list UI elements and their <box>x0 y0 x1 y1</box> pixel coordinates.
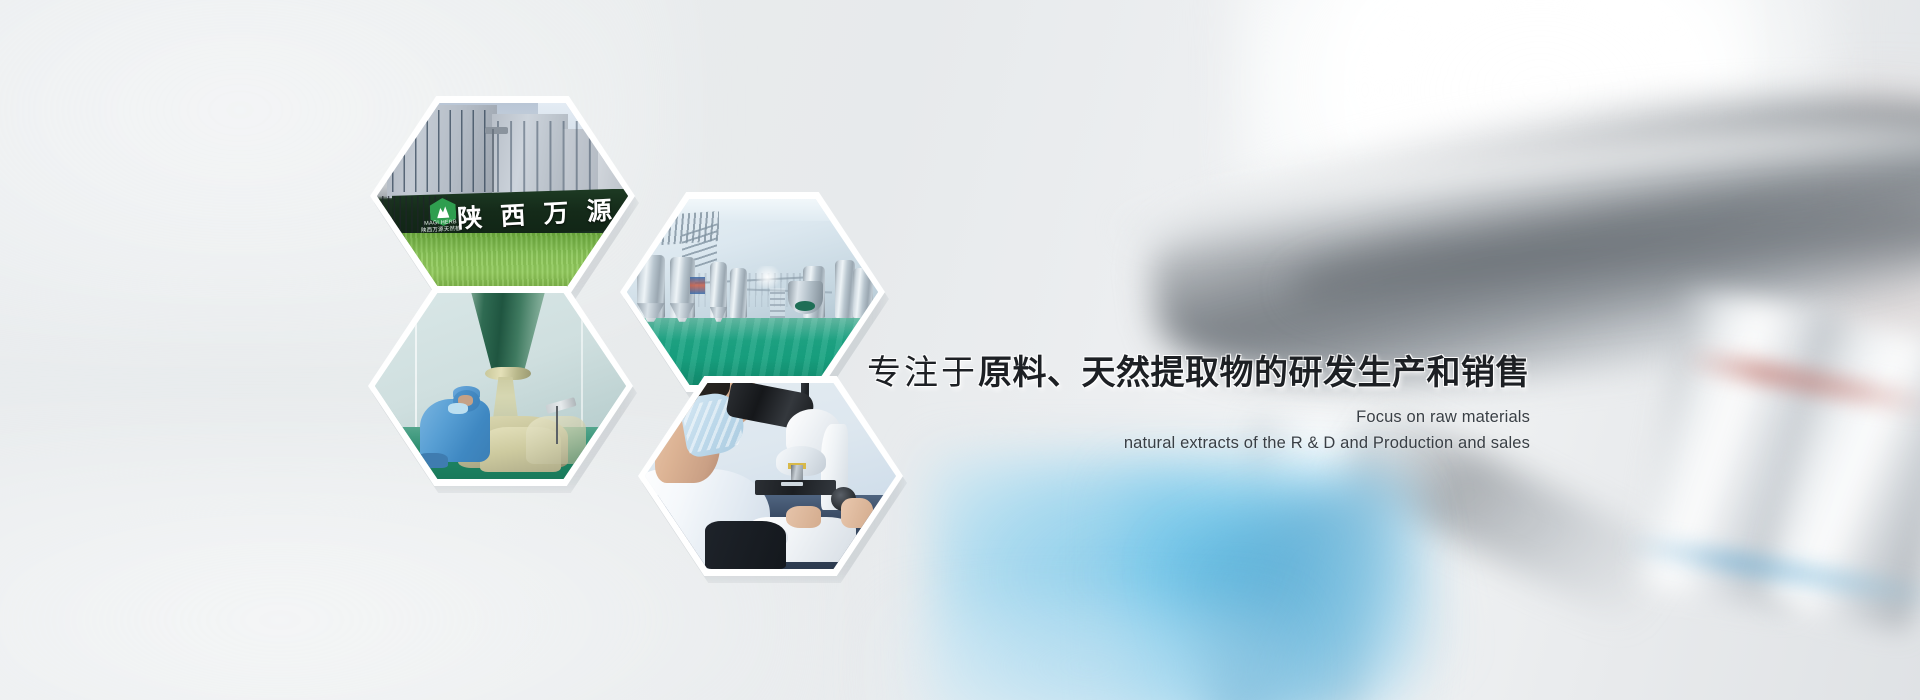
banner-text-block: 专注于原料、天然提取物的研发生产和销售 Focus on raw materia… <box>690 350 1530 456</box>
subtitle-line-1: Focus on raw materials <box>690 404 1530 430</box>
lamp-glare <box>752 266 782 288</box>
window-grid-right <box>497 121 597 192</box>
technician-left-hand <box>786 506 821 528</box>
sign-char-4: 源 <box>586 190 614 227</box>
technician-dark-sleeve <box>705 521 785 569</box>
headline-strong: 原料、天然提取物的研发生产和销售 <box>978 353 1530 393</box>
photo-factory-entrance: MAGI HERB 陕西万源天然植物提取 陕 西 万 源 <box>377 103 628 289</box>
sign-char-3: 万 <box>543 193 571 230</box>
extraction-tank <box>853 268 873 318</box>
control-panel <box>690 277 705 294</box>
worker-shoe-cover <box>418 453 448 468</box>
wall-seam <box>581 293 583 427</box>
window-grid-left <box>392 110 492 192</box>
banner-headline: 专注于原料、天然提取物的研发生产和销售 <box>690 350 1530 396</box>
technician-right-hand <box>841 498 874 528</box>
sign-char-1: 陕 <box>456 198 484 235</box>
hero-banner: MAGI HERB 陕西万源天然植物提取 陕 西 万 源 <box>0 0 1920 700</box>
light-fixture <box>485 127 508 134</box>
extraction-tank <box>730 268 748 318</box>
kettle-contents <box>795 301 815 310</box>
light-pole <box>492 129 494 192</box>
specimen-slide <box>781 482 804 486</box>
hexagon-image-frame <box>375 293 626 479</box>
hexagon-image-frame: MAGI HERB 陕西万源天然植物提取 陕 西 万 源 <box>377 103 628 289</box>
lawn <box>377 233 628 289</box>
banner-subtitle: Focus on raw materials natural extracts … <box>690 404 1530 456</box>
scoop-stand <box>556 406 558 443</box>
headline-lead: 专注于 <box>867 353 978 393</box>
sign-char-2: 西 <box>500 195 528 232</box>
equipment-rack <box>770 288 785 318</box>
photo-extract-packing <box>375 293 626 479</box>
worker-face-mask <box>448 403 468 414</box>
subtitle-line-2: natural extracts of the R & D and Produc… <box>690 430 1530 456</box>
workshop-ceiling <box>627 199 878 221</box>
wall-seam <box>415 293 417 427</box>
